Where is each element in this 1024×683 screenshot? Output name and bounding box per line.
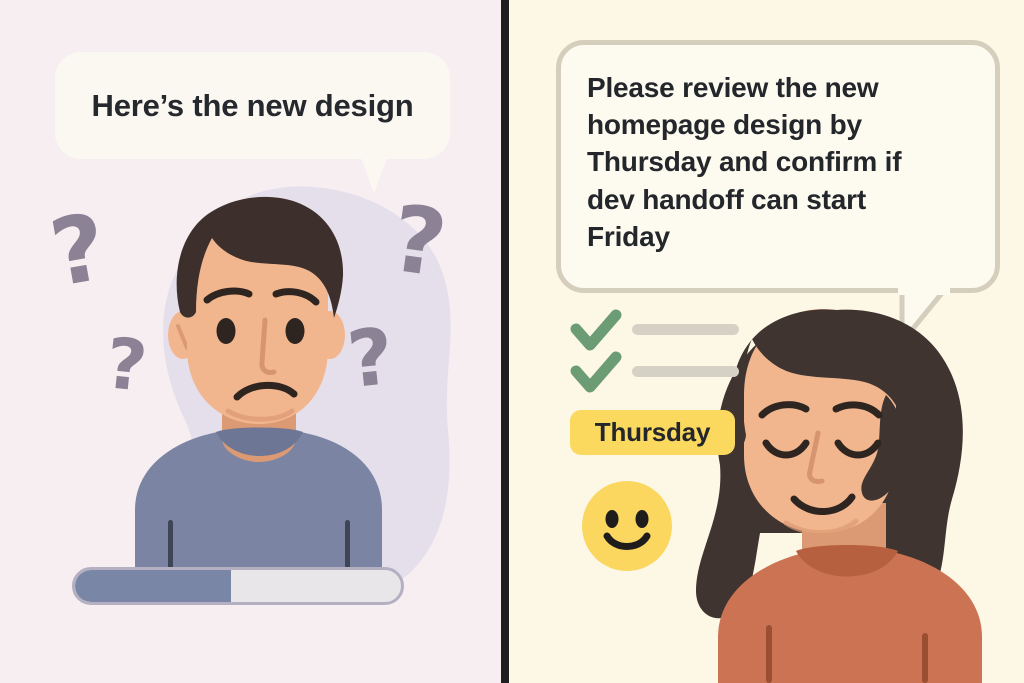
- speech-bubble-right-line-3: Thursday and confirm if: [587, 143, 969, 180]
- speech-bubble-left-text: Here’s the new design: [92, 88, 414, 124]
- speech-bubble-right-line-2: homepage design by: [587, 106, 969, 143]
- check-icon-2: [576, 357, 616, 387]
- panel-divider: [501, 0, 509, 683]
- checklist: [570, 305, 750, 395]
- progress-bar: [72, 567, 404, 605]
- illustration-canvas: Here’s the new design ? ? ? ?: [0, 0, 1024, 683]
- speech-bubble-right: Please review the new homepage design by…: [556, 40, 1000, 293]
- speech-bubble-right-line-1: Please review the new: [587, 69, 969, 106]
- speech-bubble-right-line-5: Friday: [587, 218, 969, 255]
- speech-bubble-right-line-4: dev handoff can start: [587, 181, 969, 218]
- check-icon-1: [576, 315, 616, 345]
- deadline-badge-label: Thursday: [595, 417, 710, 448]
- progress-bar-fill: [75, 570, 231, 602]
- confused-man-avatar: [0, 180, 506, 580]
- checklist-line-2: [632, 366, 739, 377]
- speech-bubble-left: Here’s the new design: [55, 52, 450, 159]
- left-panel-confused: Here’s the new design ? ? ? ?: [0, 0, 506, 683]
- checklist-line-1: [632, 324, 739, 335]
- smiley-face-icon: [582, 481, 672, 571]
- deadline-badge: Thursday: [570, 410, 735, 455]
